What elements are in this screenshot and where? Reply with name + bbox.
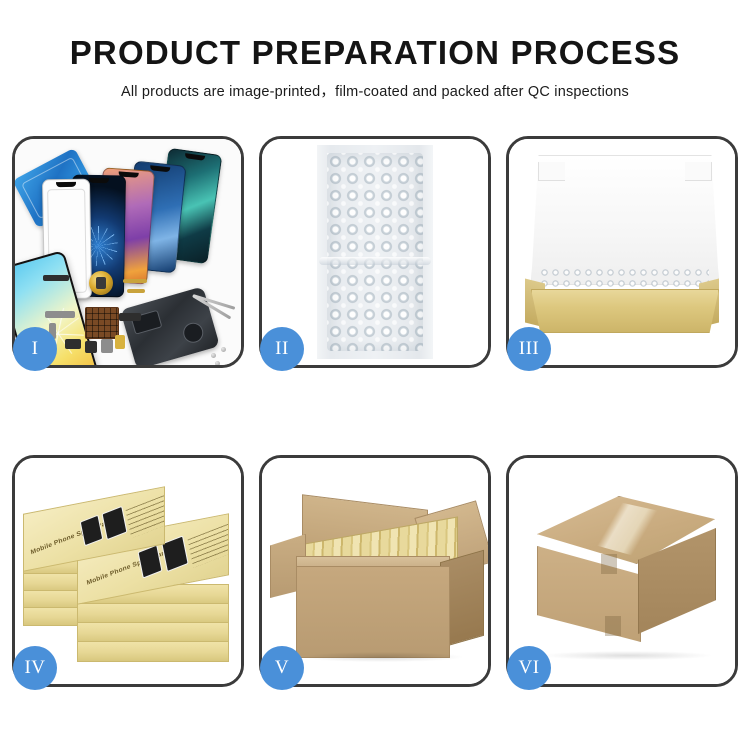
step-badge-4: IV xyxy=(13,646,57,690)
step-badge-2: II xyxy=(260,327,304,371)
carton-handle-notch-icon xyxy=(605,616,621,636)
process-step-panel-1: I xyxy=(12,136,244,368)
step-badge-6: VI xyxy=(507,646,551,690)
flex-cable-icon xyxy=(123,279,147,283)
step-badge-1: I xyxy=(13,327,57,371)
box-lid-icon xyxy=(531,155,719,285)
stacked-box xyxy=(77,603,229,624)
header: PRODUCT PREPARATION PROCESS All products… xyxy=(0,0,750,101)
box-screen-image xyxy=(80,515,104,547)
screw-icon xyxy=(215,361,220,365)
process-step-panel-5: V xyxy=(259,455,491,687)
screw-icon xyxy=(221,347,226,352)
carton-handle-notch-icon xyxy=(601,554,617,574)
process-step-panel-3: III xyxy=(506,136,738,368)
carton-shadow xyxy=(543,651,711,660)
stacked-box xyxy=(77,622,229,643)
page-subtitle: All products are image-printed，film-coat… xyxy=(0,80,750,101)
box-front-icon xyxy=(531,289,719,333)
page-title: PRODUCT PREPARATION PROCESS xyxy=(0,36,750,71)
step-badge-3: III xyxy=(507,327,551,371)
small-part-icon xyxy=(119,313,141,321)
box-spec-lines xyxy=(126,490,165,538)
screw-icon xyxy=(211,353,216,358)
small-part-icon xyxy=(101,339,113,353)
flex-cable-icon xyxy=(127,289,145,293)
connector-part-icon xyxy=(45,311,75,318)
bubble-pattern-icon xyxy=(327,153,423,351)
box-spec-lines xyxy=(188,520,229,568)
carton-body-icon xyxy=(296,566,450,658)
small-part-icon xyxy=(65,339,81,349)
carton-shadow xyxy=(302,652,462,662)
stacked-box xyxy=(77,641,229,662)
process-step-panel-2: II xyxy=(259,136,491,368)
speaker-coil-icon xyxy=(89,271,113,295)
small-part-icon xyxy=(85,341,97,353)
box-screen-image xyxy=(161,535,188,572)
step-badge-5: V xyxy=(260,646,304,690)
wrap-seam-icon xyxy=(319,257,431,265)
process-step-grid: I II III xyxy=(12,136,738,687)
battery-part-icon xyxy=(115,335,125,349)
process-step-panel-4: Mobile Phone Spare Parts Mobile Phone Sp… xyxy=(12,455,244,687)
process-step-panel-6: VI xyxy=(506,455,738,687)
mesh-component-icon xyxy=(85,307,119,339)
earpiece-part-icon xyxy=(43,275,69,281)
box-stack: Mobile Phone Spare Parts Mobile Phone Sp… xyxy=(21,472,237,672)
box-screen-image xyxy=(138,545,163,579)
box-screen-image xyxy=(102,506,128,540)
